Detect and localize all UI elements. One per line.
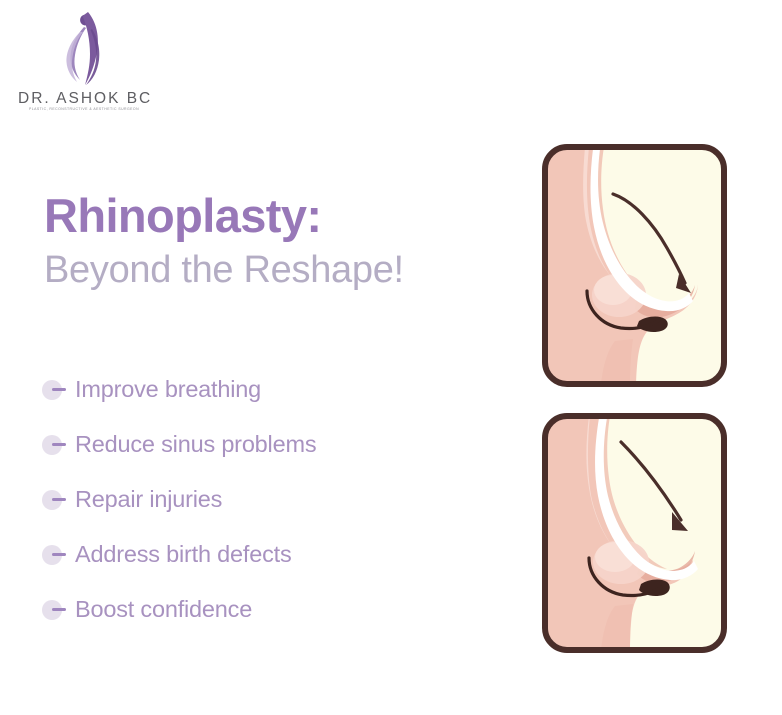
benefit-label: Boost confidence bbox=[75, 596, 252, 623]
benefit-label: Improve breathing bbox=[75, 376, 261, 403]
bullet-dash bbox=[52, 608, 66, 611]
bullet-dash bbox=[52, 388, 66, 391]
brand-tagline: PLASTIC, RECONSTRUCTIVE & AESTHETIC SURG… bbox=[17, 107, 152, 111]
bullet-dash bbox=[52, 498, 66, 501]
headline-block: Rhinoplasty: Beyond the Reshape! bbox=[44, 192, 514, 291]
nose-profile-illustration-after bbox=[541, 412, 728, 654]
page-subtitle: Beyond the Reshape! bbox=[44, 251, 514, 291]
dash-in-circle-bullet-icon bbox=[42, 378, 72, 402]
abstract-human-figure-logo-icon bbox=[54, 8, 116, 86]
brand-logo: DR. ASHOK BC PLASTIC, RECONSTRUCTIVE & A… bbox=[18, 8, 150, 116]
bullet-dash bbox=[52, 443, 66, 446]
brand-name: DR. ASHOK BC bbox=[18, 90, 150, 108]
benefit-label: Repair injuries bbox=[75, 486, 222, 513]
nose-profile-illustration-before bbox=[541, 143, 728, 388]
bullet-dash bbox=[52, 553, 66, 556]
benefits-list: Improve breathing Reduce sinus problems … bbox=[42, 362, 512, 637]
list-item: Reduce sinus problems bbox=[42, 417, 512, 472]
list-item: Repair injuries bbox=[42, 472, 512, 527]
list-item: Improve breathing bbox=[42, 362, 512, 417]
poster-canvas: DR. ASHOK BC PLASTIC, RECONSTRUCTIVE & A… bbox=[0, 0, 782, 715]
dash-in-circle-bullet-icon bbox=[42, 433, 72, 457]
dash-in-circle-bullet-icon bbox=[42, 543, 72, 567]
list-item: Boost confidence bbox=[42, 582, 512, 637]
page-title: Rhinoplasty: bbox=[44, 192, 514, 239]
benefit-label: Address birth defects bbox=[75, 541, 292, 568]
list-item: Address birth defects bbox=[42, 527, 512, 582]
benefit-label: Reduce sinus problems bbox=[75, 431, 316, 458]
dash-in-circle-bullet-icon bbox=[42, 598, 72, 622]
dash-in-circle-bullet-icon bbox=[42, 488, 72, 512]
